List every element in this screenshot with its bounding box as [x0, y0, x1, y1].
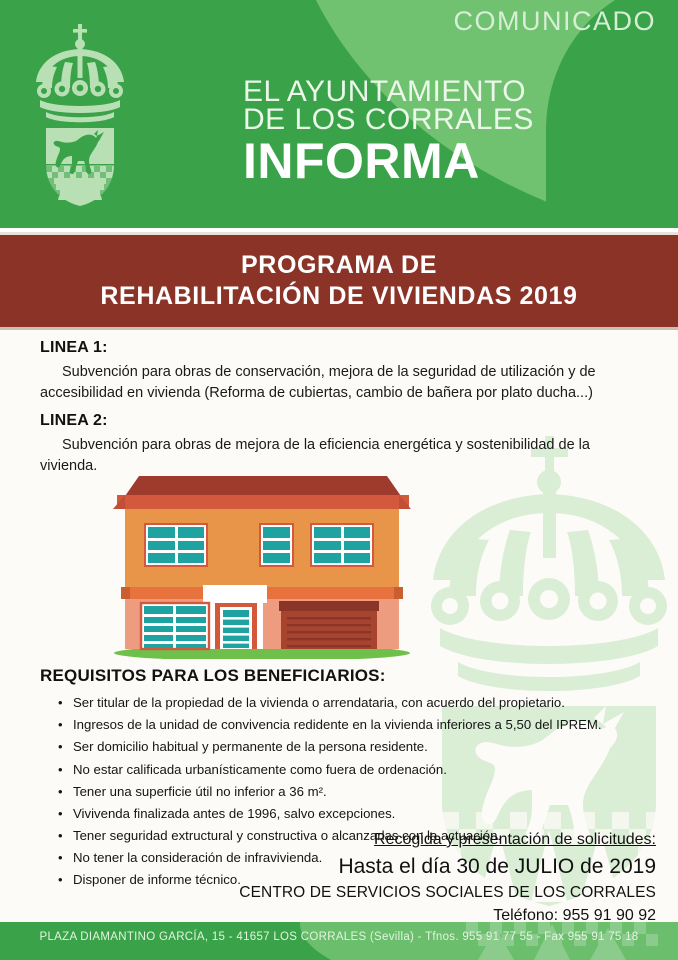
- coat-of-arms-icon: [24, 22, 136, 207]
- requirements-title: REQUISITOS PARA LOS BENEFICIARIOS:: [40, 666, 386, 686]
- poster: COMUNICADO EL AYUNTAMIENTO DE LOS CORRAL…: [0, 0, 678, 960]
- title-line-1: EL AYUNTAMIENTO: [243, 78, 534, 106]
- footer-bar: PLAZA DIAMANTINO GARCÍA, 15 - 41657 LOS …: [0, 922, 678, 960]
- page-title: EL AYUNTAMIENTO DE LOS CORRALES INFORMA: [243, 78, 534, 187]
- header-banner: COMUNICADO EL AYUNTAMIENTO DE LOS CORRAL…: [0, 0, 678, 228]
- program-banner: PROGRAMA DE REHABILITACIÓN DE VIVIENDAS …: [0, 235, 678, 327]
- linea-2-heading: LINEA 2:: [40, 412, 108, 430]
- banner-line-1: PROGRAMA DE: [241, 250, 437, 281]
- list-item: Vivivenda finalizada antes de 1996, salv…: [58, 803, 602, 825]
- title-line-3: INFORMA: [243, 136, 534, 187]
- list-item: Ser domicilio habitual y permanente de l…: [58, 736, 602, 758]
- content-area: LINEA 1: Subvención para obras de conser…: [0, 330, 678, 922]
- contact-deadline-date: Hasta el día 30 de JULIO de 2019: [239, 851, 656, 883]
- list-item: No estar calificada urbanísticamente com…: [58, 759, 602, 781]
- contact-block: Recogida y presentación de solicitudes: …: [239, 828, 656, 922]
- linea-2-text: Subvención para obras de mejora de la ef…: [40, 435, 620, 477]
- banner-line-2: REHABILITACIÓN DE VIVIENDAS 2019: [100, 281, 577, 312]
- footer-address: PLAZA DIAMANTINO GARCÍA, 15 - 41657 LOS …: [0, 931, 678, 943]
- list-item: Tener una superficie útil no inferior a …: [58, 781, 602, 803]
- comunicado-badge: COMUNICADO: [454, 6, 657, 37]
- list-item: Ser titular de la propiedad de la vivien…: [58, 692, 602, 714]
- list-item: Ingresos de la unidad de convivencia red…: [58, 714, 602, 736]
- contact-office: CENTRO DE SERVICIOS SOCIALES DE LOS CORR…: [239, 883, 656, 904]
- house-illustration-icon: [103, 473, 421, 659]
- linea-1-heading: LINEA 1:: [40, 339, 108, 357]
- linea-1-text: Subvención para obras de conservación, m…: [40, 362, 652, 404]
- title-line-2: DE LOS CORRALES: [243, 106, 534, 134]
- contact-phone: Teléfono: 955 91 90 92: [239, 904, 656, 922]
- contact-deadline-label: Recogida y presentación de solicitudes:: [239, 828, 656, 851]
